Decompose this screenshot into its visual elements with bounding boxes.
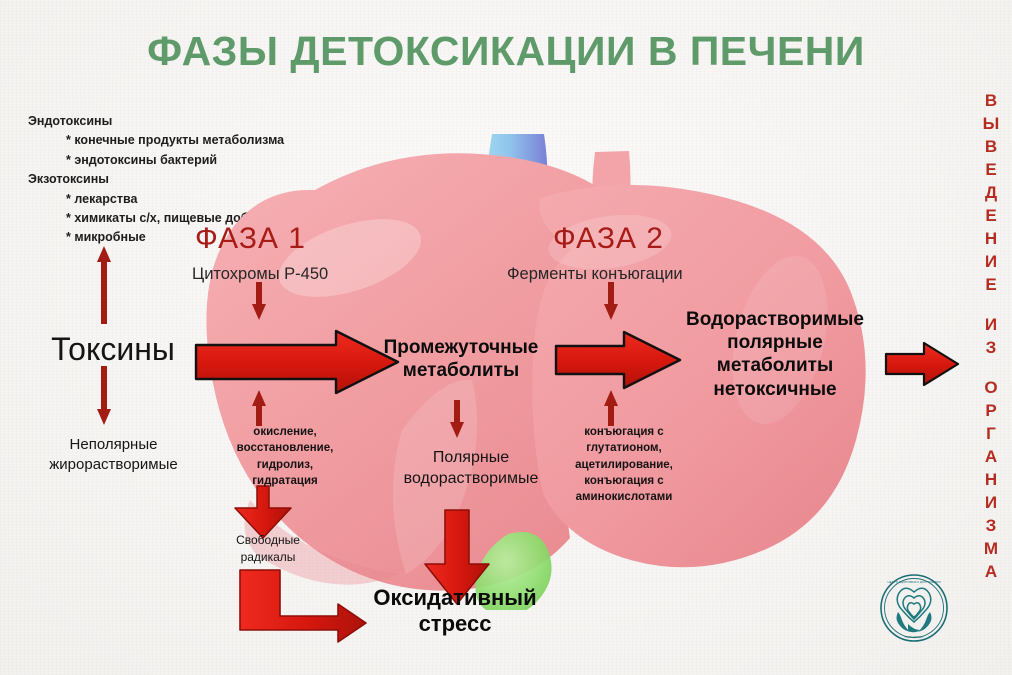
excretion-letter: В (985, 138, 997, 161)
phase-1-reactions-label: окисление,восстановление,гидролиз,гидрат… (215, 424, 355, 489)
phase2-up-arrow (604, 390, 618, 426)
excretion-letter: И (985, 253, 997, 276)
excretion-letter: Е (985, 276, 996, 299)
excretion-letter: А (985, 448, 997, 471)
excretion-letter: Н (985, 230, 997, 253)
oxidative-stress-label: Оксидативныйстресс (360, 585, 550, 638)
infographic-canvas: ФАЗЫ ДЕТОКСИКАЦИИ В ПЕЧЕНИ Эндотоксины *… (0, 0, 1012, 675)
excretion-letter: О (984, 379, 997, 402)
clinic-logo: ЦЕНТР ЗДОРОВЬЯ И ДОЛГОЛЕТИЯ ПАРАЦЕЛЬС (878, 572, 950, 644)
intermediate-property-label: Полярныеводорастворимые (396, 448, 546, 490)
final-product-label: Водорастворимыеполярныеметаболитынетокси… (655, 308, 895, 401)
toxins-label: Токсины (28, 331, 198, 368)
toxins-down-arrow (97, 366, 111, 425)
toxins-property-label: Неполярныежирорастворимые (16, 435, 211, 476)
phase2-down-arrow (604, 282, 618, 320)
phase-2-subtitle: Ферменты конъюгации (507, 265, 683, 284)
svg-text:ЦЕНТР ЗДОРОВЬЯ И ДОЛГОЛЕТИЯ: ЦЕНТР ЗДОРОВЬЯ И ДОЛГОЛЕТИЯ (887, 580, 940, 584)
excretion-letter: Г (986, 425, 996, 448)
toxins-up-arrow (97, 246, 111, 324)
excretion-letter: Д (985, 184, 997, 207)
excretion-letter: М (984, 540, 998, 563)
excretion-letter: И (985, 494, 997, 517)
excretion-letter: Р (985, 402, 996, 425)
excretion-letter: З (986, 517, 997, 540)
intermediate-property-arrow (450, 400, 464, 438)
phase-1-heading: ФАЗА 1 (195, 222, 306, 256)
phase-2-reactions-label: конъюгация сглутатионом,ацетилирование,к… (548, 424, 700, 506)
excretion-letter: И (985, 316, 997, 339)
phase1-down-arrow (252, 282, 266, 320)
excretion-letter: Е (985, 161, 996, 184)
phase1-up-arrow (252, 390, 266, 426)
intermediate-metabolites-label: Промежуточныеметаболиты (355, 336, 567, 382)
excretion-letter: А (985, 563, 997, 586)
phase-2-heading: ФАЗА 2 (553, 222, 664, 256)
excretion-flow-arrow (886, 343, 958, 385)
excretion-letter: Ы (983, 115, 1000, 138)
excretion-letter: З (986, 339, 997, 362)
excretion-letter: Н (985, 471, 997, 494)
excretion-letter: В (985, 92, 997, 115)
svg-text:ПАРАЦЕЛЬС: ПАРАЦЕЛЬС (905, 635, 925, 639)
free-radicals-to-stress-arrow (240, 570, 366, 642)
phase-1-subtitle: Цитохромы Р-450 (192, 265, 328, 284)
free-radicals-label: Свободныерадикалы (212, 532, 324, 566)
excretion-vertical-label: ВЫВЕДЕНИЕИЗОРГАНИЗМА (974, 92, 1008, 652)
free-radicals-arrow (235, 486, 291, 538)
excretion-letter: Е (985, 207, 996, 230)
